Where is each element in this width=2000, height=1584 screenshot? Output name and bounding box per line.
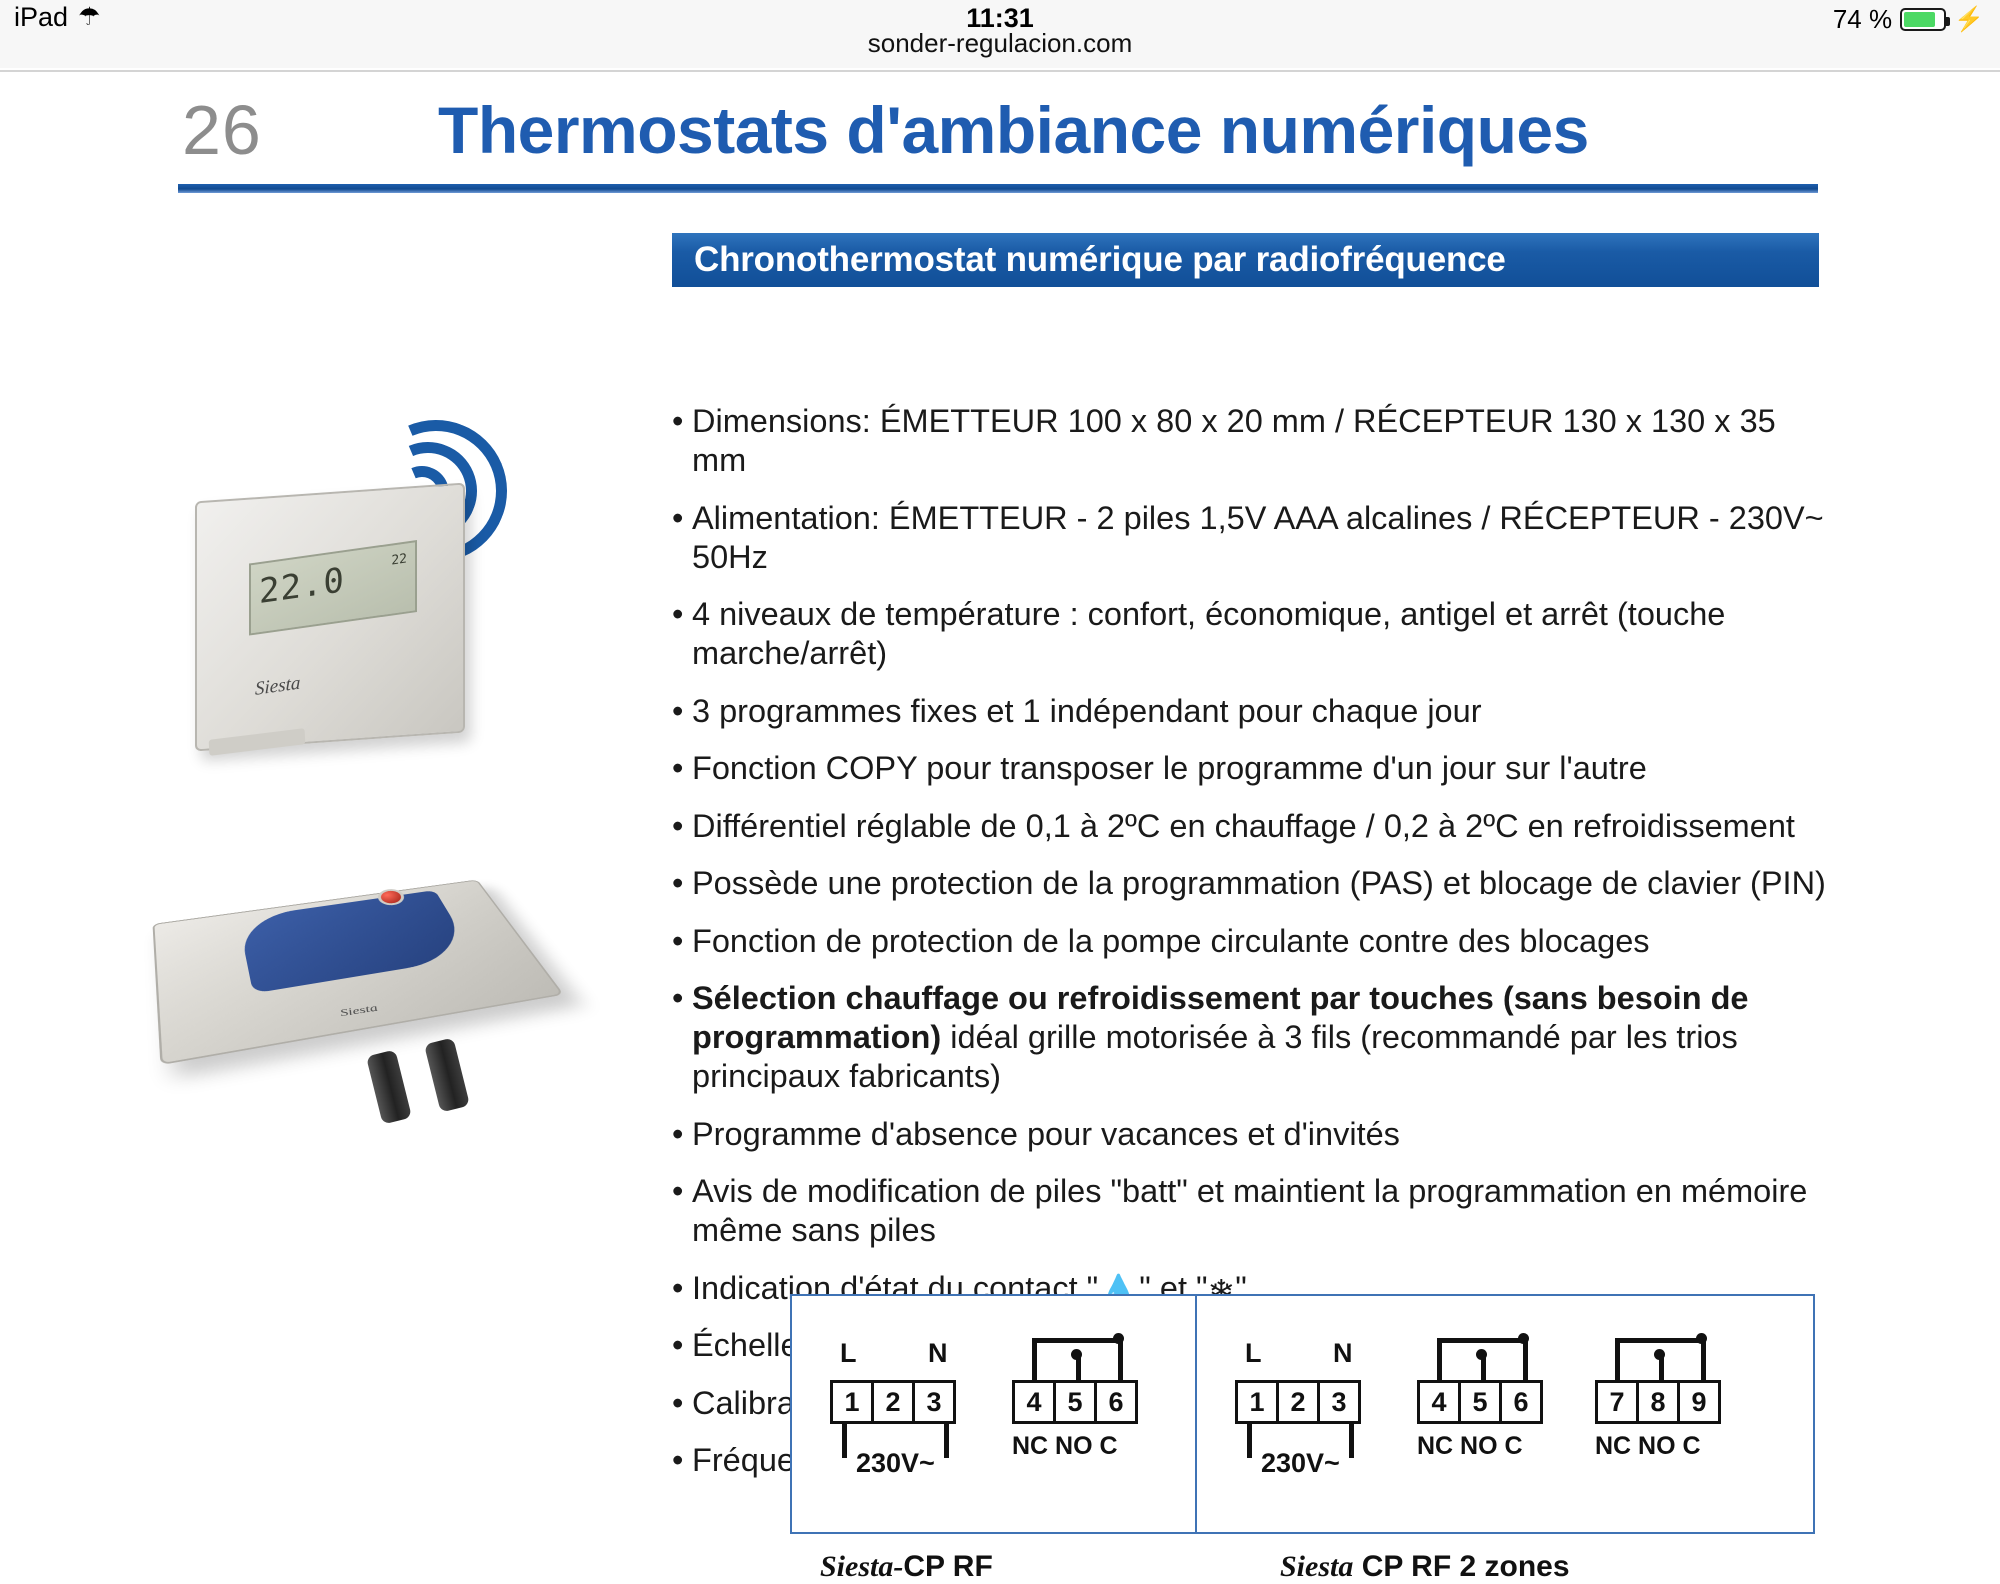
bullet-marker: • — [672, 402, 692, 441]
power-supply-label: 230V~ — [856, 1448, 935, 1479]
caption-brand: Siesta — [1280, 1550, 1353, 1583]
relay1-bar-top — [1437, 1338, 1525, 1343]
bullet-marker: • — [672, 595, 692, 634]
terminal-label-L: L — [840, 1338, 857, 1369]
terminal-1: 1 — [830, 1380, 874, 1424]
list-item: • Possède une protection de la programma… — [672, 864, 1827, 903]
terminal-strip-relay: 4 5 6 — [1012, 1380, 1138, 1424]
list-item-text: Sélection chauffage ou refroidissement p… — [692, 979, 1827, 1096]
terminal-3: 3 — [912, 1380, 956, 1424]
power-supply-label: 230V~ — [1261, 1448, 1340, 1479]
bullet-marker: • — [672, 979, 692, 1018]
bullet-marker: • — [672, 1115, 692, 1154]
browser-url-label[interactable]: sonder-regulacion.com — [0, 28, 2000, 59]
wiring-diagram-cp-rf-2-zones: L N 1 2 3 230V~ 4 5 6 NC NO C 7 — [1195, 1294, 1815, 1534]
bullet-marker: • — [672, 1441, 692, 1480]
relay-contact-labels: NC NO C — [1012, 1432, 1118, 1461]
terminal-strip-power: 1 2 3 — [1235, 1380, 1361, 1424]
relay2-node-no — [1654, 1349, 1665, 1360]
terminal-2: 2 — [1276, 1380, 1320, 1424]
terminal-4: 4 — [1012, 1380, 1056, 1424]
list-item-text: 4 niveaux de température : confort, écon… — [692, 595, 1827, 673]
list-item-text: Alimentation: ÉMETTEUR - 2 piles 1,5V AA… — [692, 499, 1827, 577]
bullet-marker: • — [672, 692, 692, 731]
terminal-4: 4 — [1417, 1380, 1461, 1424]
terminal-6: 6 — [1094, 1380, 1138, 1424]
list-item-text: Avis de modification de piles "batt" et … — [692, 1172, 1827, 1250]
document-page: 26 Thermostats d'ambiance numériques Chr… — [0, 72, 2000, 1500]
receiver-cable-gland-left — [366, 1049, 412, 1124]
relay-node-c — [1113, 1333, 1124, 1344]
wire-live — [842, 1424, 847, 1458]
caption-model: CP RF 2 zones — [1362, 1550, 1570, 1583]
bullet-marker: • — [672, 1269, 692, 1308]
list-item-text: Fonction COPY pour transposer le program… — [692, 749, 1827, 788]
caption-brand: Siesta- — [820, 1550, 903, 1583]
thermostat-body: 22.0 22 Siesta — [195, 483, 465, 752]
receiver-cable-gland-right — [424, 1037, 470, 1112]
terminal-7: 7 — [1595, 1380, 1639, 1424]
list-item-text: Possède une protection de la programmati… — [692, 864, 1827, 903]
terminal-9: 9 — [1677, 1380, 1721, 1424]
terminal-strip-power: 1 2 3 — [830, 1380, 956, 1424]
relay-wire-c — [1118, 1338, 1123, 1380]
title-divider-rule — [178, 184, 1818, 193]
terminal-label-L: L — [1245, 1338, 1262, 1369]
terminal-5: 5 — [1053, 1380, 1097, 1424]
wire-live — [1247, 1424, 1252, 1458]
section-banner-title: Chronothermostat numérique par radiofréq… — [672, 240, 1506, 280]
list-item: • Fonction COPY pour transposer le progr… — [672, 749, 1827, 788]
bullet-marker: • — [672, 499, 692, 538]
wire-neutral — [944, 1424, 949, 1458]
caption-model: CP RF — [903, 1550, 992, 1583]
terminal-strip-relay-zone1: 4 5 6 — [1417, 1380, 1543, 1424]
terminal-3: 3 — [1317, 1380, 1361, 1424]
receiver-module-photo: Siesta — [150, 832, 550, 1162]
relay2-bar-top — [1615, 1338, 1703, 1343]
terminal-2: 2 — [871, 1380, 915, 1424]
terminal-label-N: N — [928, 1338, 948, 1369]
terminal-5: 5 — [1458, 1380, 1502, 1424]
terminal-6: 6 — [1499, 1380, 1543, 1424]
terminal-8: 8 — [1636, 1380, 1680, 1424]
relay2-contact-labels: NC NO C — [1595, 1432, 1701, 1461]
list-item: • Fonction de protection de la pompe cir… — [672, 922, 1827, 961]
page-number: 26 — [182, 90, 262, 170]
list-item-text: Différentiel réglable de 0,1 à 2ºC en ch… — [692, 807, 1827, 846]
bullet-marker: • — [672, 1384, 692, 1423]
wire-neutral — [1349, 1424, 1354, 1458]
list-item: • 3 programmes fixes et 1 indépendant po… — [672, 692, 1827, 731]
relay1-contact-labels: NC NO C — [1417, 1432, 1523, 1461]
bullet-marker: • — [672, 864, 692, 903]
lcd-temperature-value: 22.0 — [259, 560, 345, 612]
bullet-marker: • — [672, 1326, 692, 1365]
list-item-highlighted: • Sélection chauffage ou refroidissement… — [672, 979, 1827, 1096]
list-item: • Programme d'absence pour vacances et d… — [672, 1115, 1827, 1154]
wiring-diagram-cp-rf: L N 1 2 3 230V~ 4 5 6 NC NO C — [790, 1294, 1200, 1534]
bullet-marker: • — [672, 749, 692, 788]
section-banner: Chronothermostat numérique par radiofréq… — [672, 233, 1819, 287]
bullet-marker: • — [672, 1172, 692, 1211]
relay2-node-c — [1696, 1333, 1707, 1344]
relay1-node-no — [1476, 1349, 1487, 1360]
list-item-text: Dimensions: ÉMETTEUR 100 x 80 x 20 mm / … — [692, 402, 1827, 480]
bullet-marker: • — [672, 807, 692, 846]
list-item: • Avis de modification de piles "batt" e… — [672, 1172, 1827, 1250]
lcd-secondary-value: 22 — [391, 551, 407, 568]
list-item-text: 3 programmes fixes et 1 indépendant pour… — [692, 692, 1827, 731]
relay1-node-c — [1518, 1333, 1529, 1344]
relay1-wire-c — [1523, 1338, 1528, 1380]
relay-node-no — [1071, 1349, 1082, 1360]
relay-bar-top — [1032, 1338, 1120, 1343]
relay-wire-nc — [1032, 1338, 1037, 1380]
thermostat-lcd-screen: 22.0 22 — [249, 540, 417, 635]
page-title: Thermostats d'ambiance numériques — [438, 92, 1589, 168]
relay2-wire-nc — [1615, 1338, 1620, 1380]
list-item: • Dimensions: ÉMETTEUR 100 x 80 x 20 mm … — [672, 402, 1827, 480]
terminal-strip-relay-zone2: 7 8 9 — [1595, 1380, 1721, 1424]
terminal-label-N: N — [1333, 1338, 1353, 1369]
relay2-wire-c — [1701, 1338, 1706, 1380]
list-item-text: Programme d'absence pour vacances et d'i… — [692, 1115, 1827, 1154]
relay1-wire-nc — [1437, 1338, 1442, 1380]
list-item: • 4 niveaux de température : confort, éc… — [672, 595, 1827, 673]
bullet-marker: • — [672, 922, 692, 961]
list-item-text: Fonction de protection de la pompe circu… — [692, 922, 1827, 961]
list-item: • Alimentation: ÉMETTEUR - 2 piles 1,5V … — [672, 499, 1827, 577]
thermostat-brand-label: Siesta — [255, 672, 300, 700]
terminal-1: 1 — [1235, 1380, 1279, 1424]
battery-fill — [1904, 12, 1935, 27]
diagram-caption-cp-rf-2-zones: Siesta CP RF 2 zones — [1280, 1550, 1570, 1584]
list-item: • Différentiel réglable de 0,1 à 2ºC en … — [672, 807, 1827, 846]
thermostat-transmitter-photo: 22.0 22 Siesta — [175, 472, 495, 792]
diagram-caption-cp-rf: Siesta-CP RF — [820, 1550, 993, 1584]
